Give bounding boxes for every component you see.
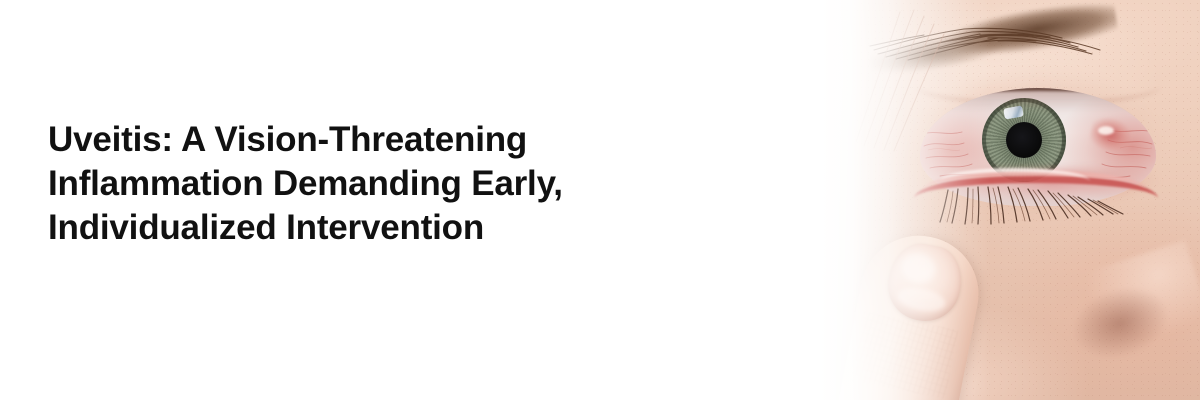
headline-block: Uveitis: A Vision-Threatening Inflammati… (48, 118, 688, 250)
headline-line-2: Inflammation Demanding Early, (48, 162, 688, 206)
headline-line-1: Uveitis: A Vision-Threatening (48, 118, 688, 162)
headline-line-3: Individualized Intervention (48, 206, 688, 250)
page-title: Uveitis: A Vision-Threatening Inflammati… (48, 118, 688, 250)
eye-photograph (760, 0, 1200, 400)
photo-left-fade (760, 0, 990, 400)
canthus-highlight (1098, 126, 1114, 135)
article-header-banner: Uveitis: A Vision-Threatening Inflammati… (0, 0, 1200, 400)
